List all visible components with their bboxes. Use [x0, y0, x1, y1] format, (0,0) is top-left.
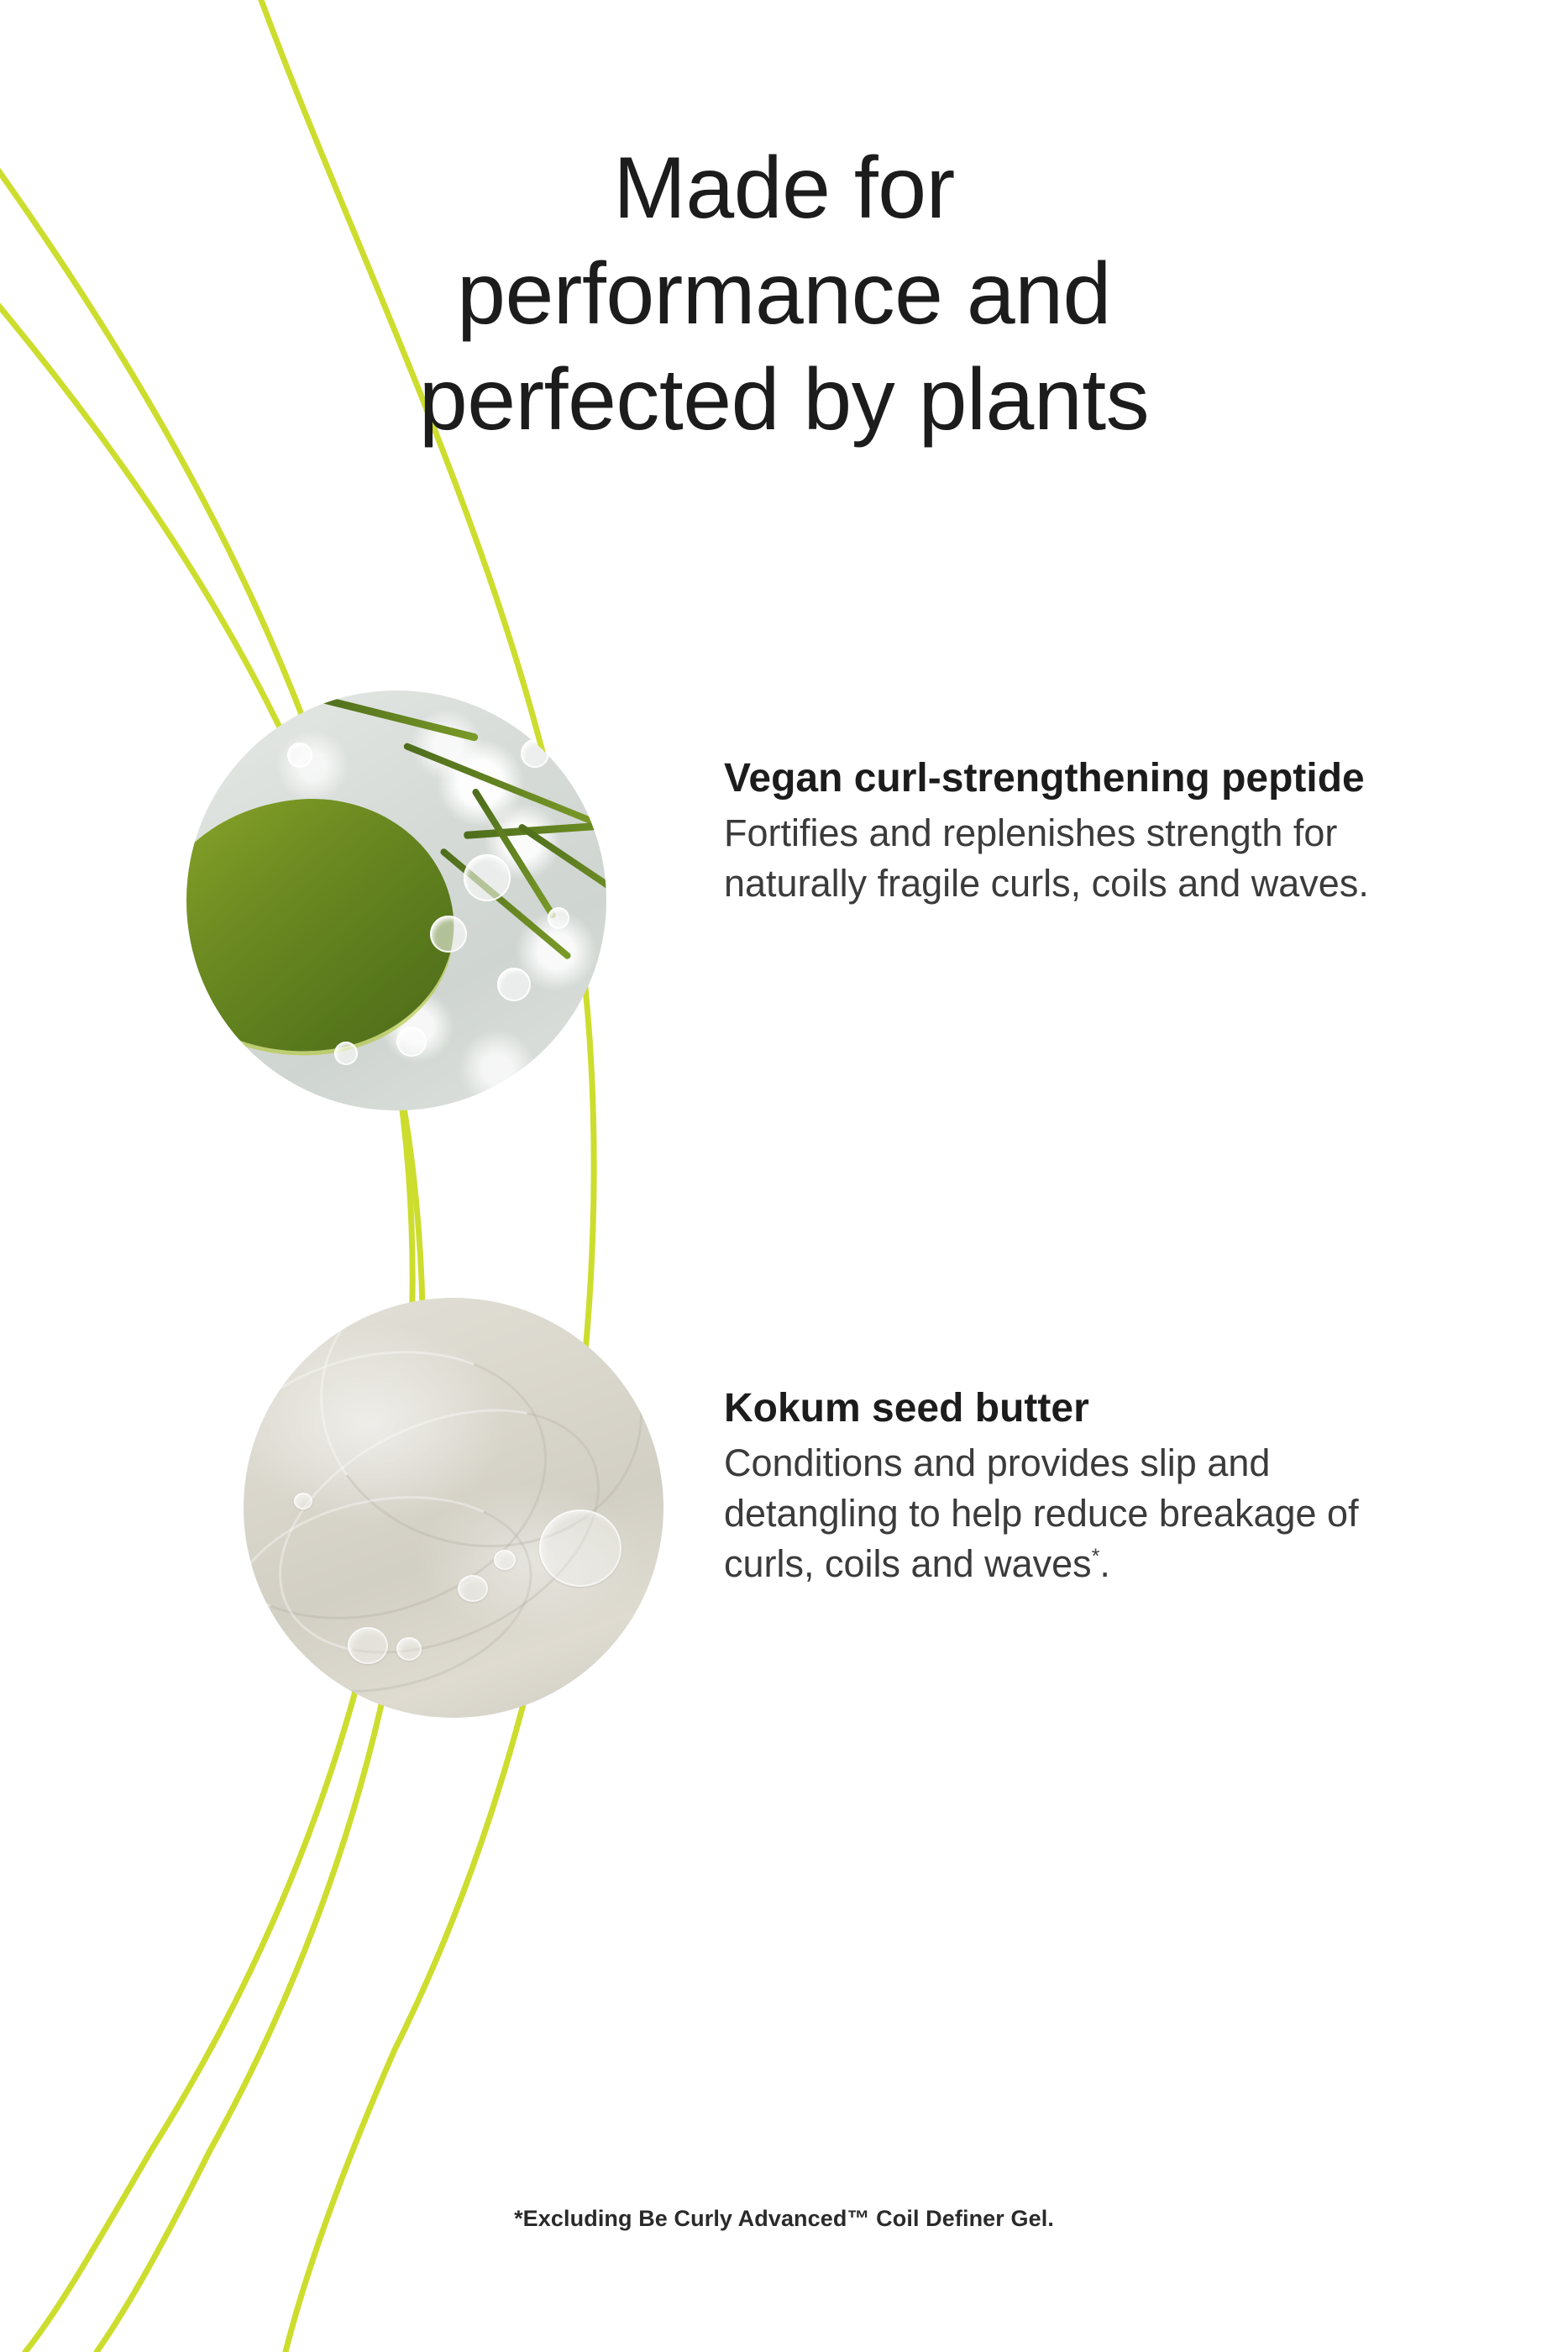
- gel-bubble-3: [521, 739, 549, 768]
- gel-bubble-6: [396, 1026, 427, 1057]
- footnote: *Excluding Be Curly Advanced™ Coil Defin…: [0, 2204, 1568, 2233]
- butter-bubble-3: [396, 1637, 422, 1661]
- gel-bubble-8: [334, 1042, 358, 1065]
- headline-line-3: perfected by plants: [0, 347, 1568, 453]
- grass-blade-2: [403, 742, 600, 827]
- page-title: Made for performance and perfected by pl…: [0, 135, 1568, 453]
- butter-bubble-large: [539, 1509, 621, 1587]
- ingredient-block-peptide: Vegan curl-strengthening peptide Fortifi…: [724, 754, 1413, 909]
- gel-bubble-2: [430, 916, 467, 953]
- footnote-marker-icon: *: [1092, 1546, 1100, 1568]
- headline-line-1: Made for: [0, 135, 1568, 241]
- gel-bubble-1: [464, 854, 511, 901]
- ingredient-image-vegan-curl-strengthening-peptide: [186, 690, 606, 1110]
- ingredient-description-kokum-text: Conditions and provides slip and detangl…: [724, 1441, 1359, 1585]
- ingredient-description-kokum-period: .: [1099, 1542, 1110, 1585]
- butter-bubble-6: [294, 1493, 312, 1509]
- headline-line-2: performance and: [0, 241, 1568, 347]
- gel-bubble-7: [548, 907, 569, 929]
- ingredient-title-kokum: Kokum seed butter: [724, 1384, 1413, 1433]
- ingredient-block-kokum: Kokum seed butter Conditions and provide…: [724, 1384, 1413, 1589]
- grass-blade-6: [517, 823, 606, 918]
- ingredient-description-kokum: Conditions and provides slip and detangl…: [724, 1438, 1413, 1589]
- leaf-slice-shape: [186, 785, 466, 1067]
- gel-bubble-4: [287, 743, 312, 768]
- ingredient-image-kokum-seed-butter: [244, 1298, 663, 1718]
- grass-blade-1: [314, 694, 479, 742]
- ingredient-description-peptide: Fortifies and replenishes strength for n…: [724, 808, 1413, 909]
- curve-left-outer: [0, 126, 412, 2352]
- ingredient-title-peptide: Vegan curl-strengthening peptide: [724, 754, 1413, 803]
- butter-bubble-4: [458, 1575, 488, 1602]
- promo-panel: Made for performance and perfected by pl…: [0, 0, 1568, 2352]
- gel-bubble-5: [497, 968, 531, 1001]
- butter-bubble-2: [348, 1627, 388, 1664]
- butter-bubble-5: [494, 1550, 516, 1570]
